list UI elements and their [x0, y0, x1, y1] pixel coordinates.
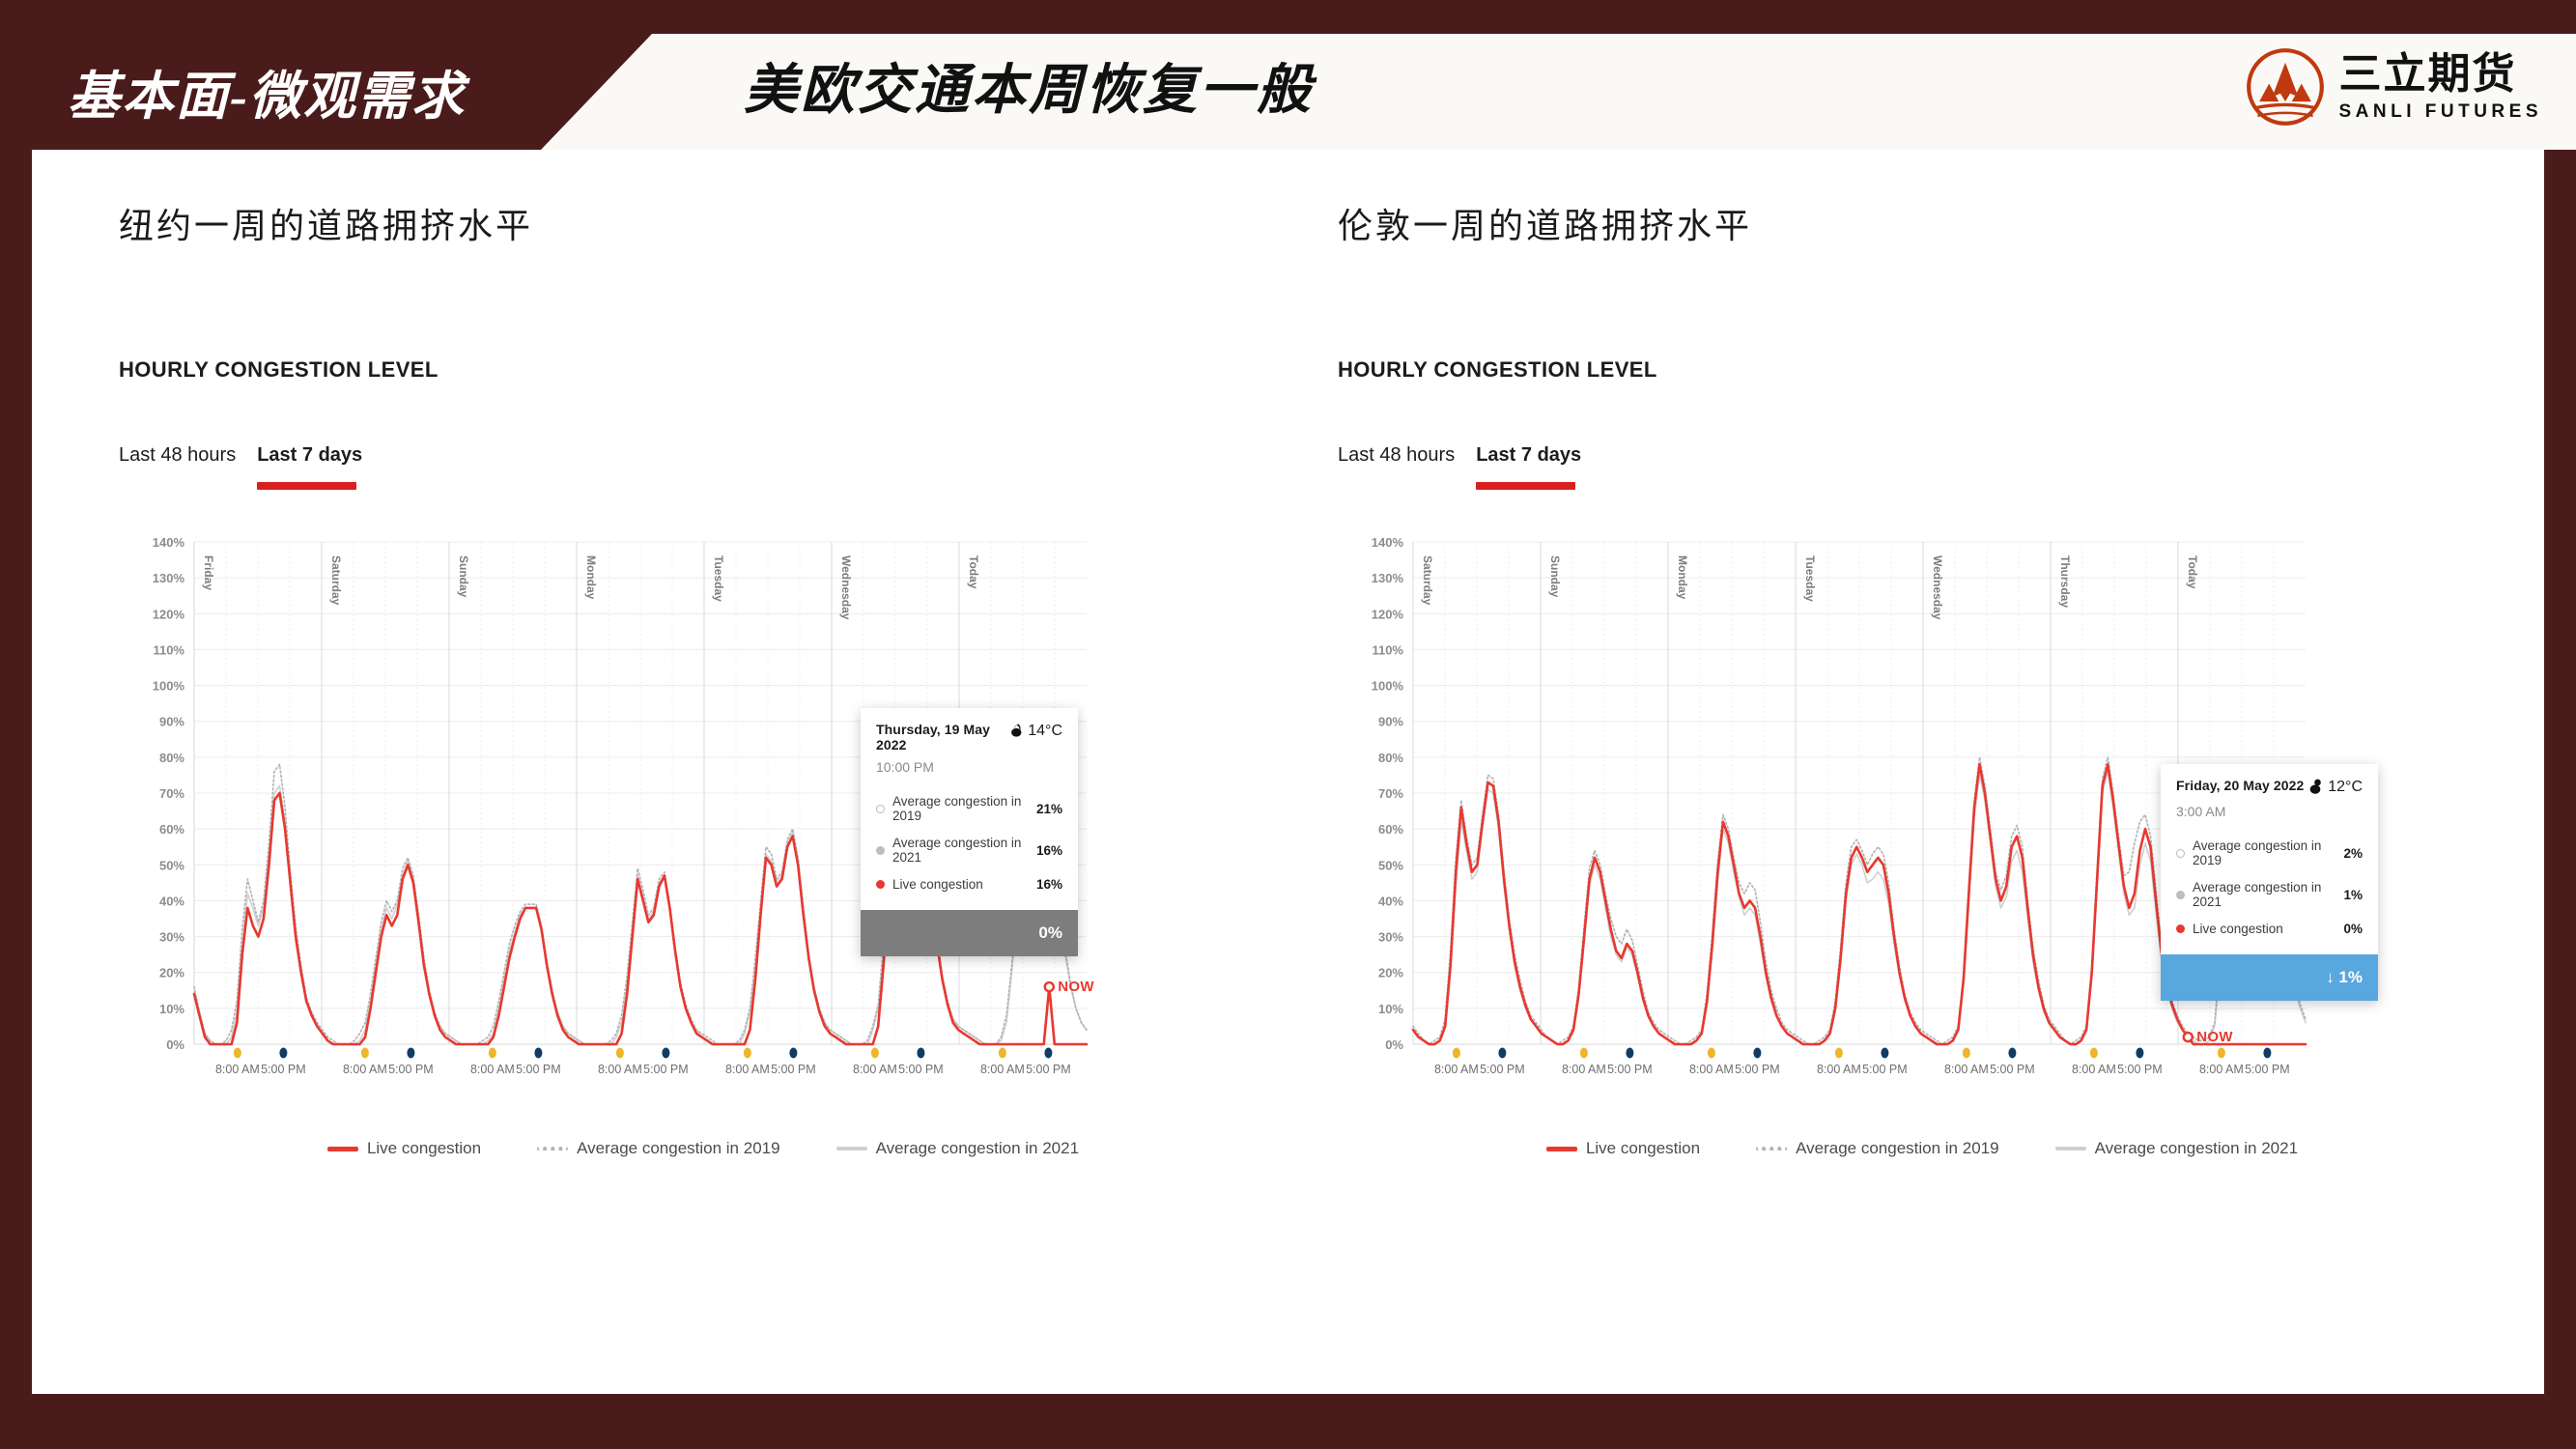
svg-text:5:00 PM: 5:00 PM: [1607, 1063, 1653, 1076]
svg-text:8:00 AM: 8:00 AM: [1434, 1063, 1479, 1076]
congestion-chart-new-york[interactable]: 0%10%20%30%40%50%60%70%80%90%100%110%120…: [119, 534, 1104, 1104]
svg-text:50%: 50%: [159, 858, 184, 872]
svg-text:120%: 120%: [153, 607, 185, 621]
panel-caption-london: 伦敦一周的道路拥挤水平: [1338, 198, 1752, 248]
svg-text:Thursday: Thursday: [2058, 555, 2072, 608]
tooltip-row-value: 2%: [2343, 846, 2363, 861]
svg-text:5:00 PM: 5:00 PM: [1862, 1063, 1908, 1076]
tooltip-row-live: Live congestion 0%: [2176, 922, 2363, 936]
svg-text:110%: 110%: [153, 642, 184, 657]
svg-text:Wednesday: Wednesday: [839, 555, 853, 620]
svg-text:40%: 40%: [159, 894, 184, 908]
header-section-tag: 基本面-微观需求: [68, 53, 466, 129]
svg-text:70%: 70%: [159, 786, 184, 801]
svg-text:Sunday: Sunday: [1548, 555, 1562, 598]
chart-tooltip-new-york: Thursday, 19 May 2022 14°C 10:00 PM: [861, 708, 1078, 956]
svg-text:40%: 40%: [1378, 894, 1403, 908]
legend-item-2021: Average congestion in 2021: [2055, 1139, 2298, 1158]
legend-swatch-2019-icon: [1756, 1147, 1787, 1151]
svg-text:20%: 20%: [1378, 966, 1403, 980]
svg-text:5:00 PM: 5:00 PM: [2245, 1063, 2290, 1076]
svg-text:5:00 PM: 5:00 PM: [388, 1063, 434, 1076]
red-circle-icon: [2176, 924, 2185, 933]
tooltip-body: Friday, 20 May 2022 12°C 3:00 AM: [2161, 764, 2378, 954]
svg-text:140%: 140%: [153, 535, 185, 550]
svg-text:10%: 10%: [159, 1002, 184, 1016]
tooltip-footer: ↓ 1%: [2161, 954, 2378, 1001]
svg-text:Monday: Monday: [584, 555, 598, 600]
svg-text:8:00 AM: 8:00 AM: [2199, 1063, 2244, 1076]
time-range-tabs: Last 48 hours Last 7 days: [1338, 444, 2420, 478]
tooltip-row-value: 21%: [1036, 802, 1062, 816]
legend-swatch-live-icon: [327, 1147, 358, 1151]
svg-text:8:00 AM: 8:00 AM: [598, 1063, 642, 1076]
svg-text:10%: 10%: [1378, 1002, 1403, 1016]
legend-label: Average congestion in 2019: [1796, 1139, 1998, 1158]
tooltip-row-label: Live congestion: [2193, 922, 2343, 936]
svg-text:Today: Today: [2186, 555, 2199, 589]
svg-text:8:00 AM: 8:00 AM: [725, 1063, 770, 1076]
tooltip-footer: 0%: [861, 910, 1078, 956]
chart-legend-london: Live congestion Average congestion in 20…: [1425, 1139, 2420, 1158]
svg-text:5:00 PM: 5:00 PM: [771, 1063, 816, 1076]
svg-text:5:00 PM: 5:00 PM: [261, 1063, 306, 1076]
logo-name-en: SANLI FUTURES: [2339, 102, 2543, 121]
legend-label: Average congestion in 2021: [2095, 1139, 2298, 1158]
tooltip-row-label: Average congestion in 2021: [892, 836, 1036, 865]
tooltip-header-row: Friday, 20 May 2022 12°C: [2176, 778, 2363, 797]
svg-text:8:00 AM: 8:00 AM: [853, 1063, 897, 1076]
svg-text:8:00 AM: 8:00 AM: [1817, 1063, 1861, 1076]
chart-legend-new-york: Live congestion Average congestion in 20…: [206, 1139, 1201, 1158]
svg-text:8:00 AM: 8:00 AM: [470, 1063, 515, 1076]
svg-text:80%: 80%: [159, 751, 184, 765]
tooltip-row-value: 16%: [1036, 877, 1062, 892]
svg-text:100%: 100%: [153, 679, 185, 694]
svg-text:8:00 AM: 8:00 AM: [343, 1063, 387, 1076]
legend-swatch-2019-icon: [537, 1147, 568, 1151]
legend-swatch-live-icon: [1546, 1147, 1577, 1151]
svg-text:0%: 0%: [1385, 1037, 1403, 1052]
widget-title: HOURLY CONGESTION LEVEL: [1338, 357, 2420, 383]
logo-name-cn: 三立期货: [2339, 53, 2543, 96]
legend-label: Average congestion in 2021: [876, 1139, 1079, 1158]
svg-text:Friday: Friday: [202, 555, 215, 590]
svg-text:Wednesday: Wednesday: [1931, 555, 1944, 620]
tooltip-header-row: Thursday, 19 May 2022 14°C: [876, 722, 1062, 753]
logo-text-block: 三立期货 SANLI FUTURES: [2339, 53, 2543, 121]
tooltip-row-2019: Average congestion in 2019 21%: [876, 794, 1062, 823]
tooltip-footer-arrow: ↓: [2326, 968, 2335, 987]
tooltip-row-2021: Average congestion in 2021 16%: [876, 836, 1062, 865]
congestion-widget-london: HOURLY CONGESTION LEVEL Last 48 hours La…: [1338, 357, 2420, 1158]
tooltip-weather: 14°C: [1005, 722, 1062, 741]
brand-logo: 三立期货 SANLI FUTURES: [2245, 46, 2543, 128]
grey-circle-icon: [876, 846, 885, 855]
svg-text:90%: 90%: [1378, 715, 1403, 729]
svg-text:Today: Today: [967, 555, 980, 589]
svg-text:8:00 AM: 8:00 AM: [980, 1063, 1025, 1076]
svg-text:Tuesday: Tuesday: [1803, 555, 1817, 602]
svg-text:120%: 120%: [1372, 607, 1404, 621]
legend-label: Live congestion: [1586, 1139, 1700, 1158]
chart-tooltip-london: Friday, 20 May 2022 12°C 3:00 AM: [2161, 764, 2378, 1001]
svg-text:140%: 140%: [1372, 535, 1404, 550]
svg-text:8:00 AM: 8:00 AM: [1562, 1063, 1606, 1076]
svg-text:8:00 AM: 8:00 AM: [2072, 1063, 2116, 1076]
svg-text:Tuesday: Tuesday: [712, 555, 725, 602]
cloud-icon: [2306, 778, 2325, 797]
svg-text:8:00 AM: 8:00 AM: [215, 1063, 260, 1076]
tooltip-temperature: 14°C: [1028, 723, 1062, 740]
tooltip-date: Friday, 20 May 2022: [2176, 778, 2304, 793]
mountain-circle-logo-icon: [2245, 46, 2326, 128]
slide-header: 基本面-微观需求 美欧交通本周恢复一般 三立期货 SANLI FUTURES: [0, 0, 2576, 150]
svg-text:8:00 AM: 8:00 AM: [1689, 1063, 1734, 1076]
svg-text:5:00 PM: 5:00 PM: [898, 1063, 944, 1076]
tab-last-48-hours[interactable]: Last 48 hours: [119, 444, 236, 478]
svg-text:5:00 PM: 5:00 PM: [1735, 1063, 1780, 1076]
tab-last-48-hours[interactable]: Last 48 hours: [1338, 444, 1455, 478]
legend-swatch-2021-icon: [2055, 1147, 2086, 1151]
svg-text:90%: 90%: [159, 715, 184, 729]
svg-text:70%: 70%: [1378, 786, 1403, 801]
tooltip-row-live: Live congestion 16%: [876, 877, 1062, 892]
legend-item-live: Live congestion: [327, 1139, 481, 1158]
time-range-tabs: Last 48 hours Last 7 days: [119, 444, 1201, 478]
tooltip-row-label: Average congestion in 2021: [2193, 880, 2343, 909]
slide-body: 纽约一周的道路拥挤水平 HOURLY CONGESTION LEVEL Last…: [32, 150, 2544, 1394]
legend-swatch-2021-icon: [836, 1147, 867, 1151]
legend-item-2019: Average congestion in 2019: [537, 1139, 779, 1158]
moon-cloud-icon: [1005, 722, 1025, 741]
panel-london: 伦敦一周的道路拥挤水平 HOURLY CONGESTION LEVEL Last…: [1251, 150, 2506, 1394]
svg-text:30%: 30%: [1378, 930, 1403, 945]
svg-text:5:00 PM: 5:00 PM: [1990, 1063, 2035, 1076]
panel-new-york: 纽约一周的道路拥挤水平 HOURLY CONGESTION LEVEL Last…: [32, 150, 1288, 1394]
tooltip-row-value: 0%: [2343, 922, 2363, 936]
congestion-chart-london[interactable]: 0%10%20%30%40%50%60%70%80%90%100%110%120…: [1338, 534, 2323, 1104]
tooltip-row-value: 1%: [2343, 888, 2363, 902]
page-title: 美欧交通本周恢复一般: [744, 46, 1314, 125]
hollow-circle-icon: [876, 805, 885, 813]
legend-label: Average congestion in 2019: [577, 1139, 779, 1158]
tooltip-time: 10:00 PM: [876, 759, 1062, 775]
tab-last-7-days[interactable]: Last 7 days: [257, 444, 362, 478]
svg-text:5:00 PM: 5:00 PM: [1026, 1063, 1071, 1076]
svg-text:130%: 130%: [1372, 571, 1404, 585]
red-circle-icon: [876, 880, 885, 889]
widget-title: HOURLY CONGESTION LEVEL: [119, 357, 1201, 383]
svg-text:5:00 PM: 5:00 PM: [2117, 1063, 2163, 1076]
svg-text:60%: 60%: [159, 822, 184, 837]
svg-text:Saturday: Saturday: [1421, 555, 1434, 606]
tooltip-rows: Average congestion in 2019 2% Average co…: [2176, 838, 2363, 936]
tab-last-7-days[interactable]: Last 7 days: [1476, 444, 1581, 478]
svg-text:8:00 AM: 8:00 AM: [1944, 1063, 1989, 1076]
grey-circle-icon: [2176, 891, 2185, 899]
svg-text:110%: 110%: [1372, 642, 1403, 657]
legend-item-2021: Average congestion in 2021: [836, 1139, 1079, 1158]
svg-text:5:00 PM: 5:00 PM: [516, 1063, 561, 1076]
svg-text:Monday: Monday: [1676, 555, 1689, 600]
tooltip-time: 3:00 AM: [2176, 804, 2363, 819]
svg-text:Sunday: Sunday: [457, 555, 470, 598]
svg-text:130%: 130%: [153, 571, 185, 585]
tooltip-row-2019: Average congestion in 2019 2%: [2176, 838, 2363, 867]
svg-text:30%: 30%: [159, 930, 184, 945]
tooltip-footer-value: 1%: [2338, 968, 2363, 987]
legend-label: Live congestion: [367, 1139, 481, 1158]
tooltip-row-2021: Average congestion in 2021 1%: [2176, 880, 2363, 909]
congestion-widget-new-york: HOURLY CONGESTION LEVEL Last 48 hours La…: [119, 357, 1201, 1158]
tooltip-date: Thursday, 19 May 2022: [876, 722, 1005, 753]
tooltip-row-label: Average congestion in 2019: [2193, 838, 2343, 867]
tooltip-footer-value: 0%: [1038, 923, 1062, 943]
svg-text:Saturday: Saturday: [329, 555, 343, 606]
svg-text:20%: 20%: [159, 966, 184, 980]
legend-item-2019: Average congestion in 2019: [1756, 1139, 1998, 1158]
tooltip-row-label: Average congestion in 2019: [892, 794, 1036, 823]
hollow-circle-icon: [2176, 849, 2185, 858]
svg-text:60%: 60%: [1378, 822, 1403, 837]
tooltip-rows: Average congestion in 2019 21% Average c…: [876, 794, 1062, 892]
legend-item-live: Live congestion: [1546, 1139, 1700, 1158]
panel-caption-new-york: 纽约一周的道路拥挤水平: [119, 198, 533, 248]
svg-text:0%: 0%: [166, 1037, 184, 1052]
svg-text:50%: 50%: [1378, 858, 1403, 872]
svg-text:5:00 PM: 5:00 PM: [643, 1063, 689, 1076]
tooltip-row-label: Live congestion: [892, 877, 1036, 892]
svg-text:5:00 PM: 5:00 PM: [1480, 1063, 1525, 1076]
svg-text:80%: 80%: [1378, 751, 1403, 765]
tooltip-temperature: 12°C: [2328, 779, 2363, 796]
tooltip-row-value: 16%: [1036, 843, 1062, 858]
tooltip-weather: 12°C: [2306, 778, 2363, 797]
tooltip-body: Thursday, 19 May 2022 14°C 10:00 PM: [861, 708, 1078, 910]
svg-text:100%: 100%: [1372, 679, 1404, 694]
now-marker-label: NOW: [2196, 1029, 2233, 1045]
now-marker-label: NOW: [1058, 979, 1094, 995]
